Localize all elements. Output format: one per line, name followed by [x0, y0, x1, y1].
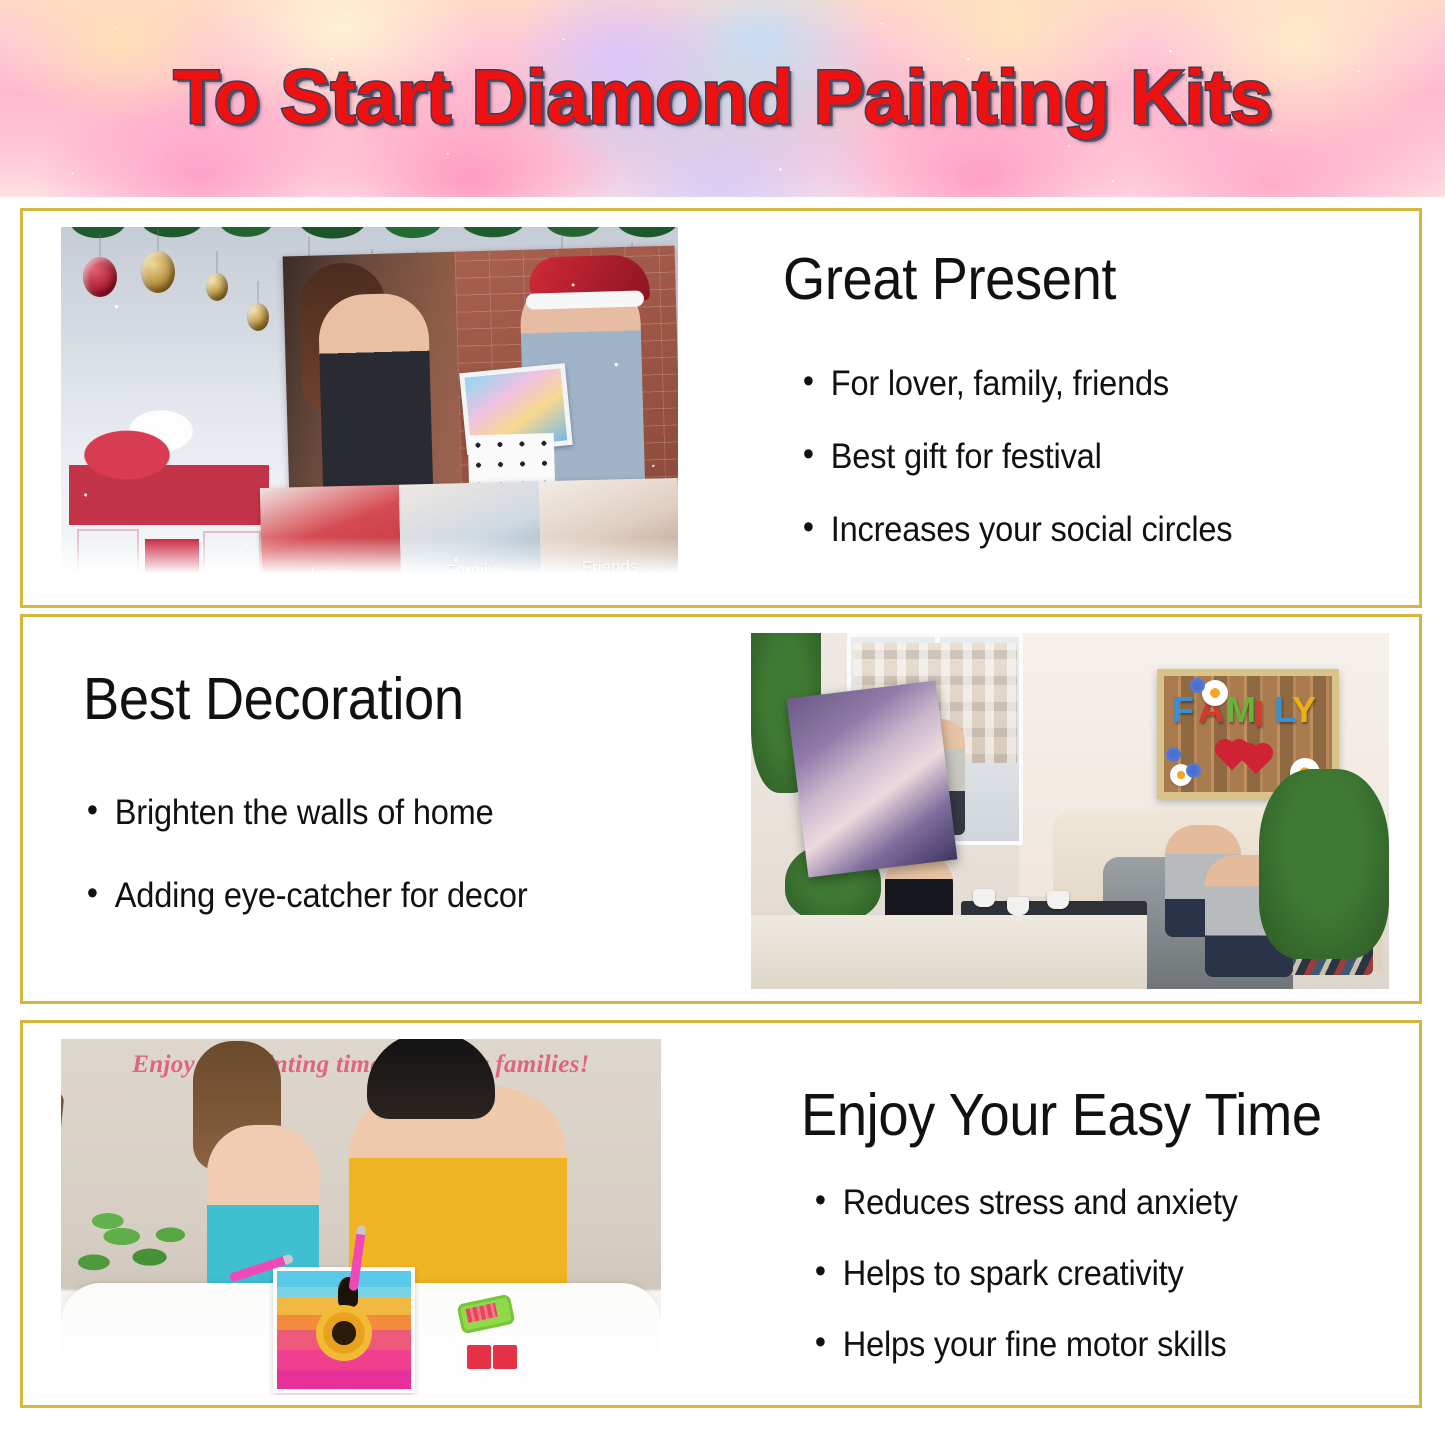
feature-panel-best-decoration: Best Decoration Brighten the walls of ho… [20, 614, 1422, 1004]
ornament-icon [141, 251, 175, 293]
wall-art-letter: F [1172, 692, 1194, 728]
santa-hat-icon [529, 254, 650, 303]
panel-1-heading: Great Present [783, 249, 1116, 309]
header-banner: To Start Diamond Painting Kits [0, 0, 1445, 197]
ornament-icon [206, 273, 228, 301]
ornament-icon [83, 257, 117, 297]
list-item: Best gift for festival [801, 439, 1232, 474]
feature-panel-enjoy-your-easy-time: Enjoy the painting time with your famili… [20, 1020, 1422, 1408]
ornament-icon [247, 303, 269, 331]
mug [973, 889, 995, 907]
list-item: Helps to spark creativity [813, 1256, 1238, 1291]
list-item: For lover, family, friends [801, 366, 1232, 401]
cornflower-icon [1186, 763, 1201, 778]
mug [1007, 897, 1029, 915]
christmas-gift-photo: Lover Family Friends [61, 227, 678, 589]
houseplant [1259, 769, 1389, 959]
area-rug [751, 915, 1147, 989]
panel-2-bullet-list: Brighten the walls of home Adding eye-ca… [85, 795, 561, 913]
living-room-photo: F A M I L Y [751, 633, 1389, 989]
person-giving-gift [318, 292, 434, 503]
list-item: Increases your social circles [801, 512, 1232, 547]
page-title: To Start Diamond Painting Kits [0, 53, 1445, 140]
panel-2-heading: Best Decoration [83, 669, 464, 729]
wall-art-letter: I [1254, 696, 1264, 732]
feature-panel-great-present: Lover Family Friends Great Present For l… [20, 208, 1422, 608]
wax-square [467, 1345, 491, 1369]
list-item: Reduces stress and anxiety [813, 1185, 1238, 1220]
hair-braid [61, 1090, 65, 1201]
heart-icon [1242, 746, 1270, 774]
cornflower-icon [1166, 747, 1181, 762]
list-item: Adding eye-catcher for decor [85, 878, 528, 913]
hair [367, 1039, 495, 1119]
panel-1-bullet-list: For lover, family, friends Best gift for… [801, 366, 1265, 547]
panel-3-heading: Enjoy Your Easy Time [801, 1085, 1322, 1145]
wall-art-letter: Y [1292, 692, 1316, 728]
diamond-painting-canvas [273, 1267, 415, 1393]
panel-3-bullet-list: Reduces stress and anxiety Helps to spar… [813, 1185, 1270, 1362]
photo-caption: Enjoy the painting time with your famili… [61, 1051, 661, 1079]
gift-exchange-scene [283, 246, 678, 505]
wall-art-letter: M [1226, 692, 1256, 728]
list-item: Helps your fine motor skills [813, 1327, 1238, 1362]
father-daughter-painting-photo: Enjoy the painting time with your famili… [61, 1039, 661, 1395]
daisy-icon [1202, 680, 1228, 706]
cornflower-icon [1190, 678, 1205, 693]
mug [1047, 891, 1069, 909]
wax-square [493, 1345, 517, 1369]
list-item: Brighten the walls of home [85, 795, 528, 830]
diamond-painting-closeup [787, 681, 958, 878]
snow-bank [61, 537, 678, 589]
sunflower-motif [316, 1305, 372, 1361]
